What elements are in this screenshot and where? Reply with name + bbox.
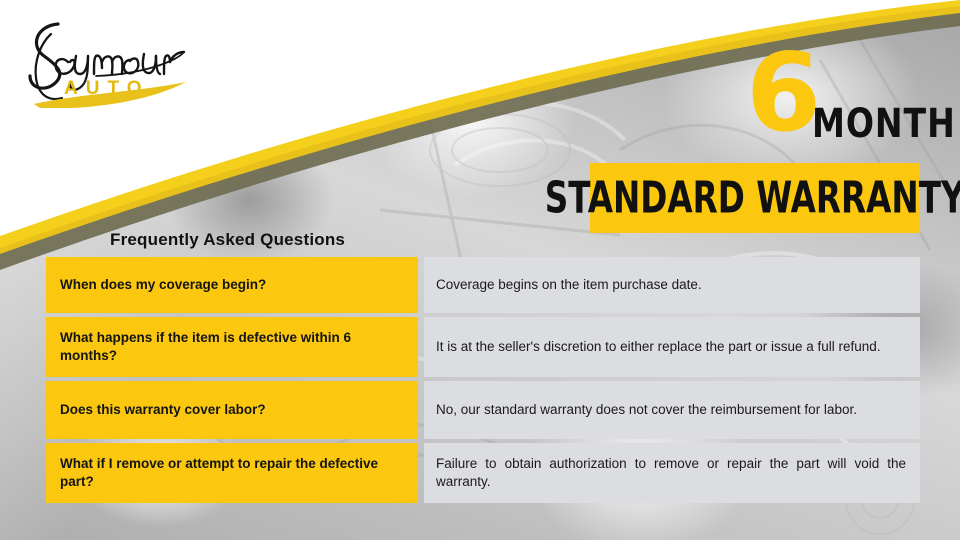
table-row: What happens if the item is defective wi… <box>46 317 920 377</box>
faq-table: When does my coverage begin? Coverage be… <box>46 257 920 503</box>
duration-unit: MONTH <box>812 104 956 144</box>
faq-question-cell: What if I remove or attempt to repair th… <box>46 443 418 503</box>
faq-question-cell: What happens if the item is defective wi… <box>46 317 418 377</box>
faq-answer-cell: It is at the seller's discretion to eith… <box>424 317 920 377</box>
duration-number: 6 <box>746 40 819 148</box>
faq-question-cell: Does this warranty cover labor? <box>46 381 418 439</box>
faq-answer-cell: Coverage begins on the item purchase dat… <box>424 257 920 313</box>
faq-answer-cell: Failure to obtain authorization to remov… <box>424 443 920 503</box>
standard-warranty-label: STANDARD WARRANTY <box>545 176 960 220</box>
faq-question-cell: When does my coverage begin? <box>46 257 418 313</box>
faq-heading: Frequently Asked Questions <box>110 230 345 250</box>
faq-answer-cell: No, our standard warranty does not cover… <box>424 381 920 439</box>
table-row: What if I remove or attempt to repair th… <box>46 443 920 503</box>
table-row: When does my coverage begin? Coverage be… <box>46 257 920 313</box>
warranty-duration-badge: 6 MONTH <box>746 52 936 157</box>
warranty-slide: AUTO 6 MONTH STANDARD WARRANTY Frequentl… <box>0 0 960 540</box>
standard-warranty-banner: STANDARD WARRANTY <box>590 163 920 233</box>
seymour-auto-logo[interactable]: AUTO <box>18 16 198 108</box>
table-row: Does this warranty cover labor? No, our … <box>46 381 920 439</box>
